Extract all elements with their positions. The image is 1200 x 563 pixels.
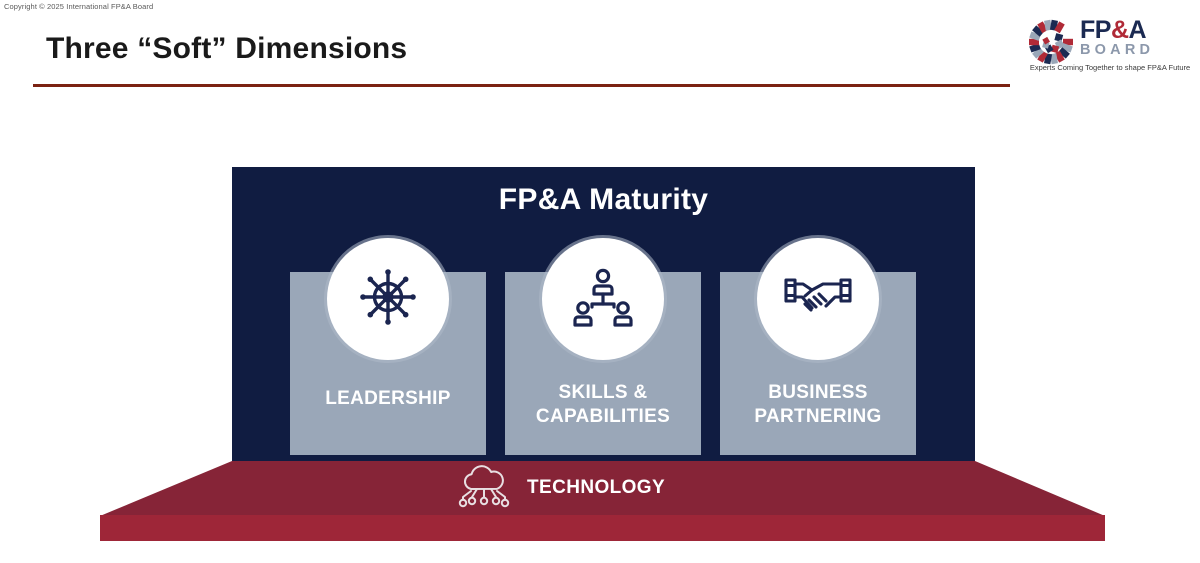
pillar-label-skills-capabilities: SKILLS & CAPABILITIES	[505, 381, 701, 429]
technology-foundation[interactable]: TECHNOLOGY	[455, 466, 755, 510]
handshake-icon	[783, 270, 853, 329]
team-structure-icon	[570, 267, 636, 332]
ships-wheel-icon	[356, 265, 420, 334]
fpa-maturity-title: FP&A Maturity	[232, 183, 975, 217]
pillar-label-line-2: CAPABILITIES	[505, 405, 701, 429]
pillar-label-line-1: BUSINESS	[720, 381, 916, 405]
pillar-label-line-2: PARTNERING	[720, 405, 916, 429]
technology-label: TECHNOLOGY	[527, 477, 665, 499]
pillar-label-line-1: SKILLS &	[505, 381, 701, 405]
technology-platform-front	[100, 515, 1105, 541]
business-partnering-icon-circle	[757, 238, 879, 360]
leadership-icon-circle	[327, 238, 449, 360]
pillar-label-leadership: LEADERSHIP	[290, 387, 486, 411]
skills-capabilities-icon-circle	[542, 238, 664, 360]
fpa-maturity-diagram: FP&A Maturity	[0, 0, 1200, 563]
pillar-label-business-partnering: BUSINESS PARTNERING	[720, 381, 916, 429]
cloud-network-icon	[455, 464, 513, 513]
